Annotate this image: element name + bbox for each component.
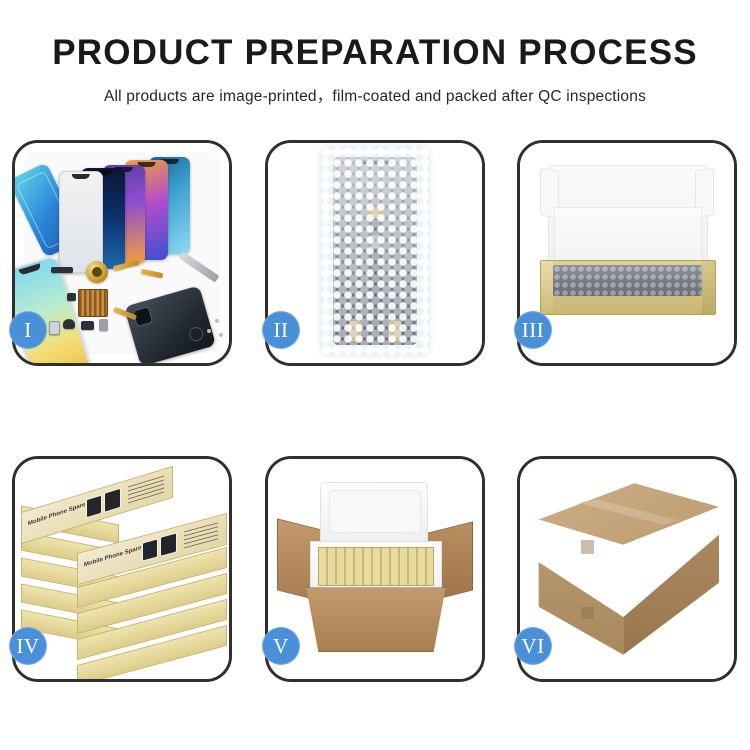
screw-part [219, 333, 223, 337]
notch-icon [18, 263, 41, 275]
camera-part [81, 321, 94, 330]
open-kraft-box [533, 165, 721, 341]
screw-part [207, 329, 211, 333]
step-badge-2: II [262, 311, 300, 349]
step-card-3[interactable]: III [517, 140, 737, 366]
sealed-carton [535, 483, 719, 655]
process-steps-grid: I II [0, 0, 750, 750]
product-preparation-process-page: PRODUCT PREPARATION PROCESS All products… [0, 0, 750, 750]
notch-icon [72, 174, 90, 179]
step-badge-3: III [514, 311, 552, 349]
step-4-image: Mobile Phone Spare Parts Mobile Phone Sp… [15, 459, 229, 679]
scene-raw-parts [15, 143, 229, 363]
step-3-image [520, 143, 734, 363]
speaker-coil-part [86, 261, 108, 283]
carton-seam-tab [581, 607, 594, 619]
step-6-image [520, 459, 734, 679]
step-card-1[interactable]: I [12, 140, 232, 366]
carton-face-top [535, 483, 719, 562]
scene-bubble-wrapping [268, 143, 482, 363]
step-badge-4: IV [9, 627, 47, 665]
open-carton [277, 477, 474, 662]
packed-yellow-boxes [318, 547, 434, 586]
bubble-wrap-overlay [321, 147, 429, 355]
screw-part [215, 319, 219, 323]
scene-sealed-carton [520, 459, 734, 679]
step-card-4[interactable]: Mobile Phone Spare Parts Mobile Phone Sp… [12, 456, 232, 682]
box-tray [540, 260, 715, 315]
scene-inner-box-packing [520, 143, 734, 363]
step-card-5[interactable]: V [265, 456, 485, 682]
foam-lid [320, 482, 428, 545]
step-badge-6: VI [514, 627, 552, 665]
earpiece-part [51, 267, 73, 273]
phone-display-1 [59, 171, 103, 273]
chip-grid-part [78, 289, 108, 317]
bubble-wrapped-contents [553, 265, 702, 296]
vibrator-part [67, 293, 76, 301]
tray-lip-right [702, 261, 714, 314]
carton-seam-tab [581, 540, 594, 554]
wrapped-lcd-assembly [321, 147, 429, 355]
speaker-part [63, 319, 75, 329]
scene-carton-loading [268, 459, 482, 679]
scene-boxed-stack: Mobile Phone Spare Parts Mobile Phone Sp… [15, 459, 229, 679]
kraft-box-stack: Mobile Phone Spare Parts Mobile Phone Sp… [21, 481, 222, 661]
step-card-6[interactable]: VI [517, 456, 737, 682]
sim-tray-part [49, 321, 60, 335]
step-5-image [268, 459, 482, 679]
battery-connector-part [99, 319, 108, 331]
step-badge-5: V [262, 627, 300, 665]
step-card-2[interactable]: II [265, 140, 485, 366]
step-badge-1: I [9, 311, 47, 349]
tray-lip-left [541, 261, 553, 314]
carton-front-panel [300, 587, 452, 652]
step-2-image [268, 143, 482, 363]
step-1-image [15, 143, 229, 363]
